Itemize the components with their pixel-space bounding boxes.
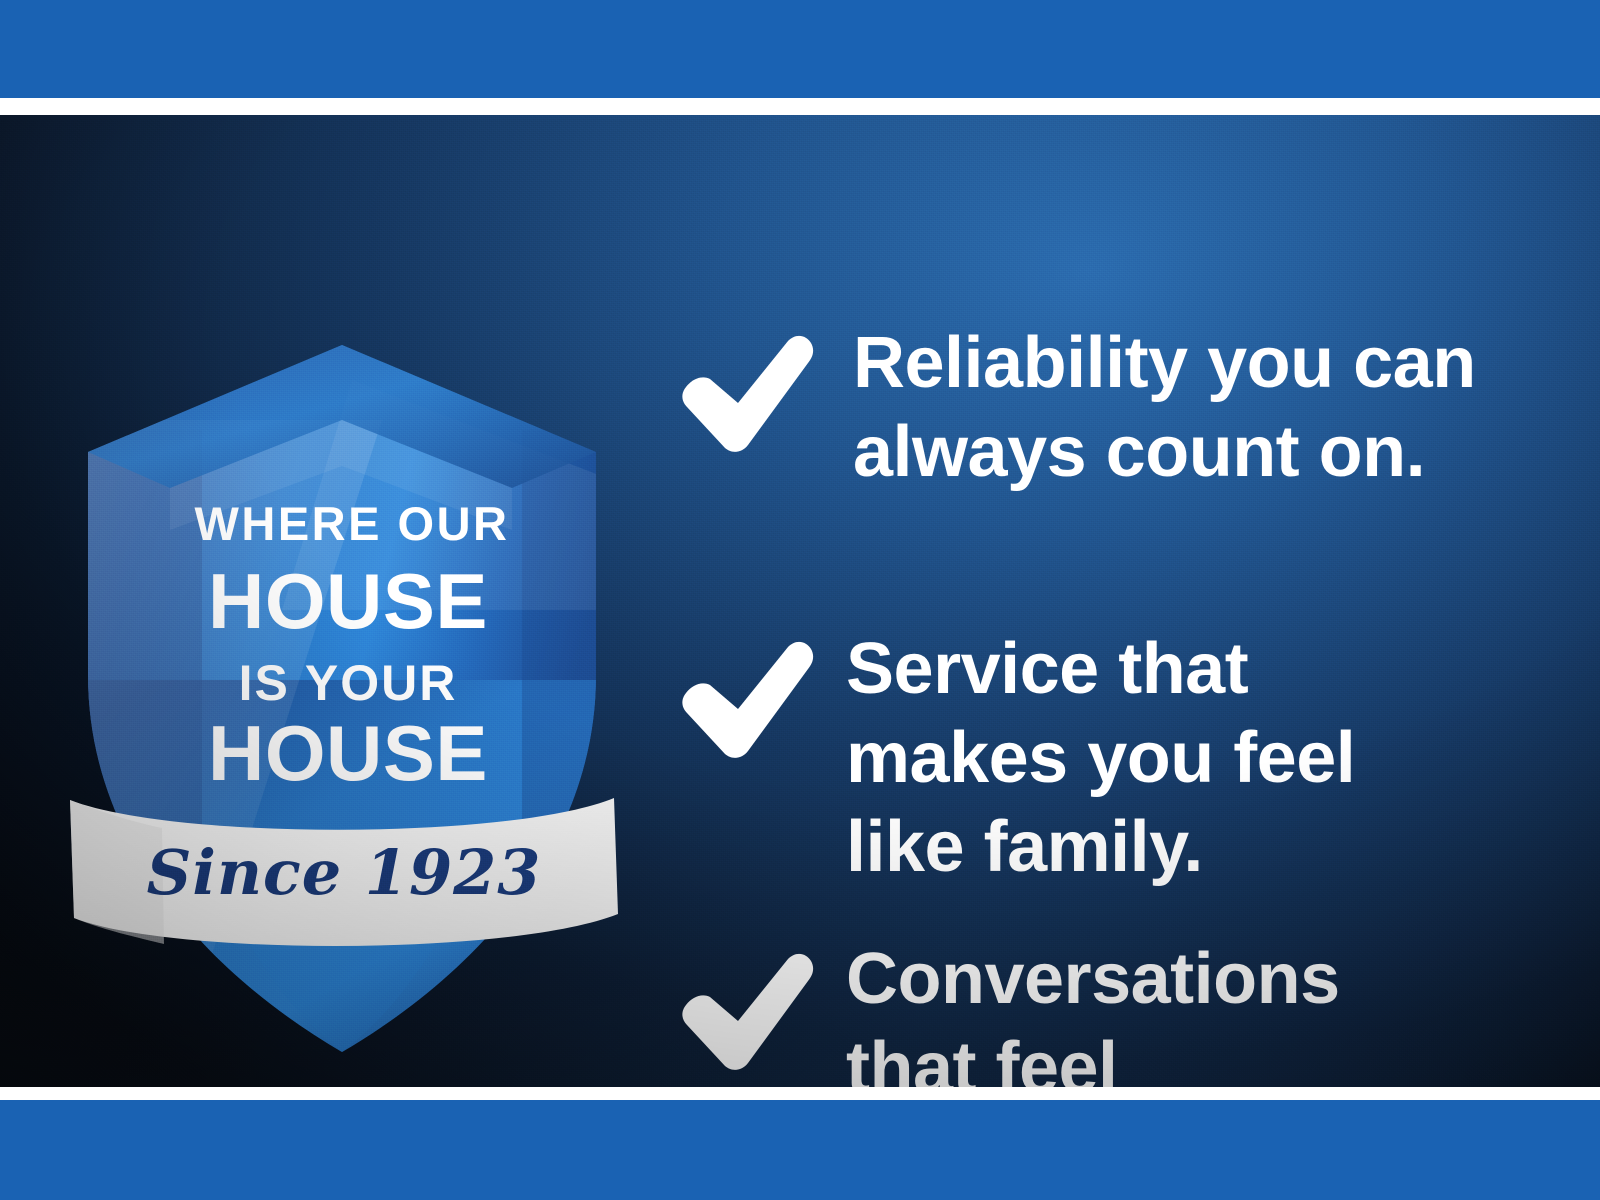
shield-logo: WHERE OUR HOUSE IS YOUR HOUSE Since 1923 [52,280,632,1080]
bottom-brand-bar [0,1100,1600,1200]
promotional-graphic: WHERE OUR HOUSE IS YOUR HOUSE Since 1923 [0,0,1600,1200]
top-brand-bar [0,0,1600,98]
emblem-line-2: HOUSE [208,557,488,645]
check-icon [668,945,818,1075]
list-item-label: Reliability you can always count on. [853,315,1568,497]
list-item: Reliability you can always count on. [668,315,1568,575]
list-item-label: Conversations that feel like home. [846,895,1568,1087]
top-white-divider [0,98,1600,115]
list-item: Service that makes you feel like family. [668,575,1568,895]
emblem-line-4: HOUSE [208,709,488,797]
list-item: Conversations that feel like home. [668,895,1568,1087]
emblem-since-text: Since 1923 [147,836,542,909]
main-stage: WHERE OUR HOUSE IS YOUR HOUSE Since 1923 [0,115,1600,1087]
check-icon [668,633,818,763]
benefits-list: Reliability you can always count on. Ser… [668,315,1568,1087]
bottom-white-divider [0,1087,1600,1100]
check-icon [668,327,818,457]
emblem-line-3: IS YOUR [239,655,458,711]
emblem-line-1: WHERE OUR [195,497,510,550]
list-item-label: Service that makes you feel like family. [846,575,1568,892]
